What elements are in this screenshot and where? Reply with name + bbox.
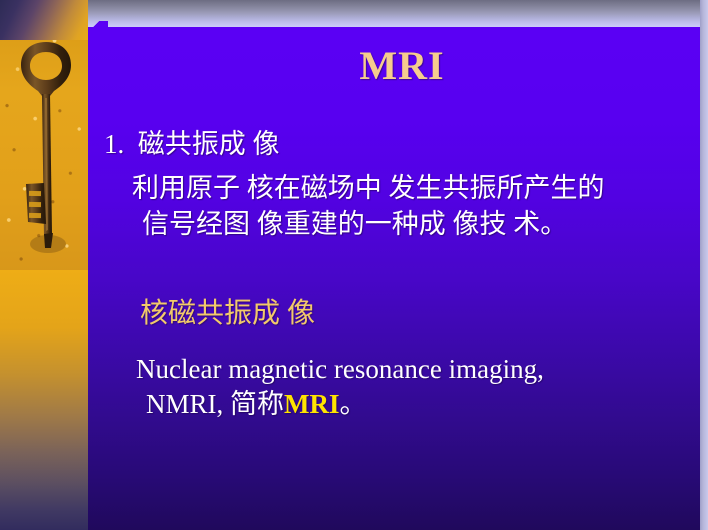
presentation-slide: MRI 1. 磁共振成 像 利用原子 核在磁场中 发生共振所产生的 信号经图 像…	[0, 0, 708, 530]
bullet-number: 1.	[104, 129, 124, 159]
definition-line-1: 利用原子 核在磁场中 发生共振所产生的	[132, 170, 700, 206]
english-term-line-1: Nuclear magnetic resonance imaging,	[136, 353, 544, 386]
slide-title: MRI	[110, 44, 694, 88]
english-term-line-2: NMRI, 简称MRI。	[146, 388, 367, 421]
slide-background-gradient	[86, 27, 701, 530]
left-decoration-strip	[0, 0, 88, 530]
dusk-gradient-overlay	[0, 0, 88, 40]
abbreviation-highlight: MRI	[284, 389, 340, 419]
abbreviation-prefix: NMRI, 简称	[146, 389, 284, 419]
gold-subheading: 核磁共振成 像	[140, 297, 315, 331]
abbreviation-suffix: 。	[340, 389, 367, 419]
slide-right-border-band	[700, 0, 708, 530]
orange-to-purple-gradient-panel	[0, 270, 88, 530]
bullet-item-1: 1. 磁共振成 像	[104, 126, 700, 162]
bullet-heading: 磁共振成 像	[138, 129, 280, 159]
definition-line-2: 信号经图 像重建的一种成 像技 术。	[142, 206, 700, 242]
antique-key-icon	[16, 36, 78, 268]
slide-corner-notch	[86, 21, 108, 30]
slide-body-text: 1. 磁共振成 像 利用原子 核在磁场中 发生共振所产生的 信号经图 像重建的一…	[104, 126, 700, 242]
